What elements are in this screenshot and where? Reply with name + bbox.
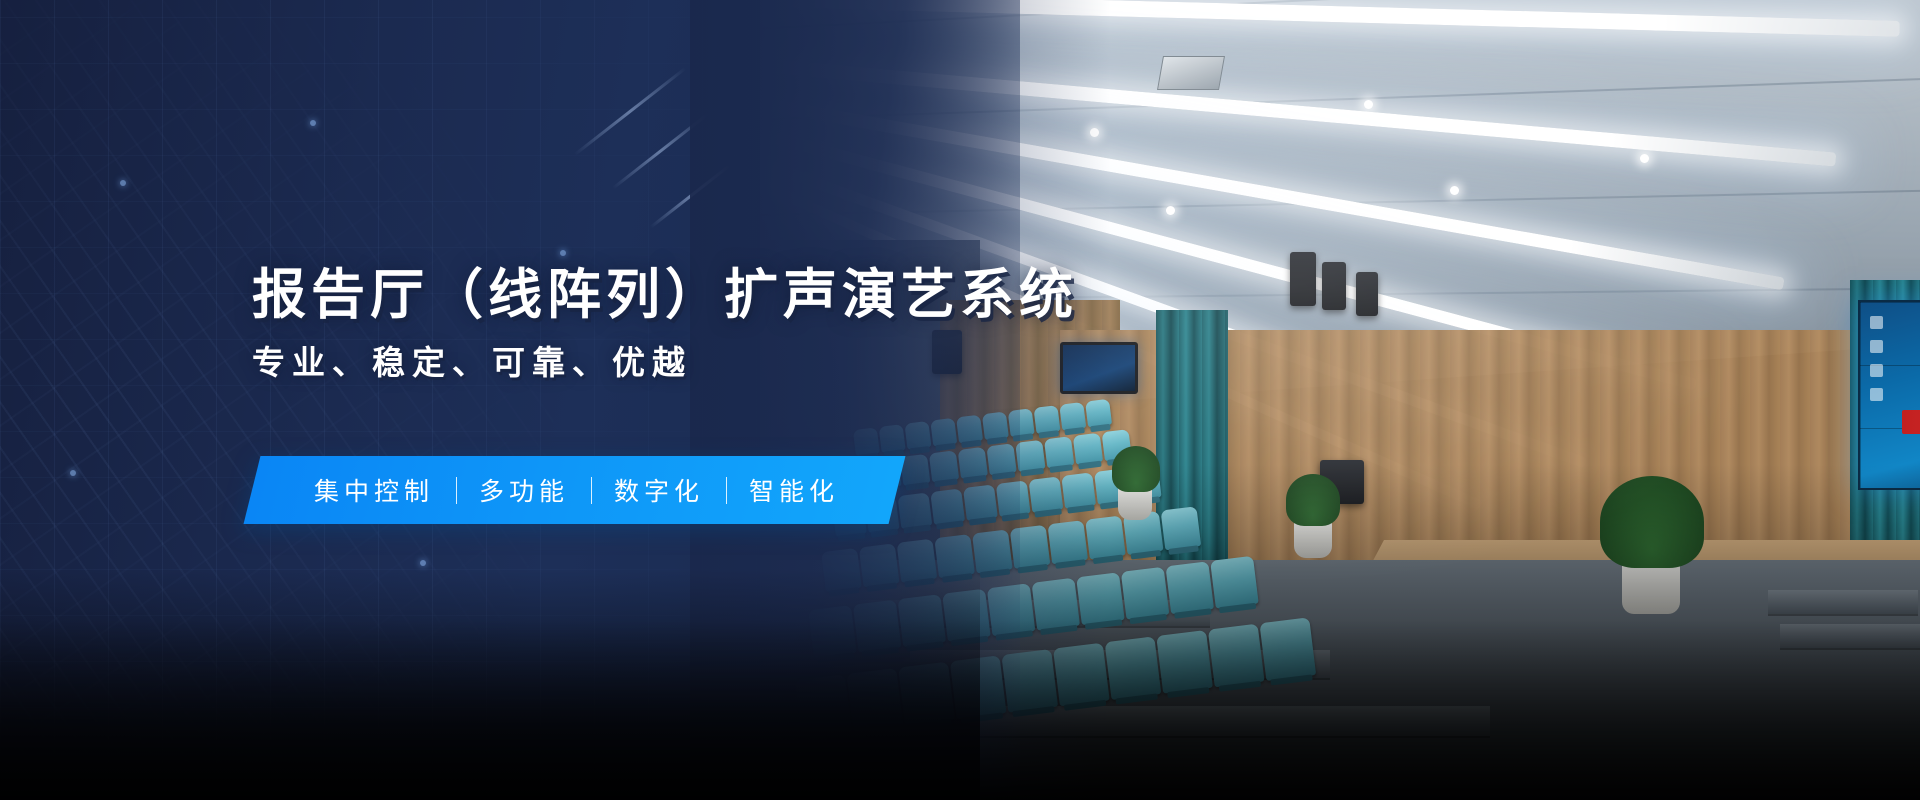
page-subtitle: 专业、稳定、可靠、优越 <box>252 346 1152 379</box>
bottom-fade <box>0 620 1920 800</box>
circuit-node <box>70 470 76 476</box>
circuit-node <box>310 120 316 126</box>
feature-tag-2[interactable]: 数字化 <box>614 472 704 508</box>
feature-tag-list: 集中控制 多功能 数字化 智能化 <box>314 472 839 508</box>
circuit-node <box>120 180 126 186</box>
hero-copy: 报告厅（线阵列）扩声演艺系统 专业、稳定、可靠、优越 <box>252 268 1152 379</box>
hero-banner: 报告厅（线阵列）扩声演艺系统 专业、稳定、可靠、优越 集中控制 多功能 数字化 … <box>0 0 1920 800</box>
tag-divider <box>726 477 727 504</box>
page-title: 报告厅（线阵列）扩声演艺系统 <box>252 268 1152 322</box>
circuit-node <box>420 560 426 566</box>
circuit-node <box>560 250 566 256</box>
tag-divider <box>591 477 592 504</box>
feature-tag-1[interactable]: 多功能 <box>479 472 569 508</box>
feature-tag-bar: 集中控制 多功能 数字化 智能化 <box>244 456 906 524</box>
feature-tag-3[interactable]: 智能化 <box>749 472 839 508</box>
feature-tag-0[interactable]: 集中控制 <box>314 472 434 508</box>
tag-divider <box>456 477 457 504</box>
